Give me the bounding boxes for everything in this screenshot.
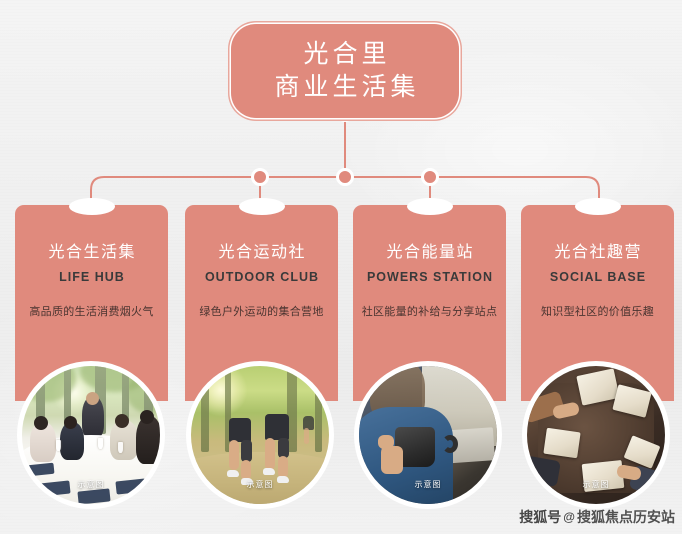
junction-dot-3 (423, 170, 438, 185)
card-cn-title: 光合生活集 (15, 243, 168, 263)
watermark-prefix: 搜狐号 (519, 507, 561, 527)
photo-label: 示意图 (191, 479, 329, 490)
sohu-watermark: 搜狐号 @ 搜狐焦点历安站 (519, 507, 675, 527)
card-photo-powers-station: 示意图 (354, 361, 502, 509)
watermark-suffix: 搜狐焦点历安站 (577, 507, 675, 527)
card-en-title: LIFE HUB (15, 269, 168, 285)
group-reading-books-photo: 示意图 (527, 366, 665, 504)
card-photo-outdoor-club: 示意图 (186, 361, 334, 509)
card-notch (407, 198, 453, 215)
card-en-title: OUTDOOR CLUB (185, 269, 338, 285)
card-en-title: POWERS STATION (353, 269, 506, 285)
card-description: 知识型社区的价值乐趣 (521, 305, 674, 320)
diagram-canvas: 光合里 商业生活集 光合生活集 LIFE HUB 高品质的生活消费烟火气 光合运… (0, 0, 682, 534)
junction-dot-2 (253, 170, 268, 185)
photo-label: 示意图 (527, 479, 665, 490)
outdoor-banquet-photo: 示意图 (22, 366, 160, 504)
card-cn-title: 光合运动社 (185, 243, 338, 263)
runners-on-path-photo: 示意图 (191, 366, 329, 504)
card-cn-title: 光合社趣营 (521, 243, 674, 263)
title-line-2: 商业生活集 (270, 72, 419, 103)
card-photo-life-hub: 示意图 (17, 361, 165, 509)
junction-dot-center (338, 170, 353, 185)
card-cn-title: 光合能量站 (353, 243, 506, 263)
card-description: 高品质的生活消费烟火气 (15, 305, 168, 320)
title-line-1: 光合里 (299, 39, 390, 70)
card-notch (575, 198, 621, 215)
card-description: 绿色户外运动的集合营地 (185, 305, 338, 320)
watermark-separator: @ (563, 510, 575, 524)
photo-label: 示意图 (22, 479, 160, 490)
card-notch (69, 198, 115, 215)
card-notch (239, 198, 285, 215)
card-description: 社区能量的补给与分享站点 (353, 305, 506, 320)
cafe-coffee-mug-photo: 示意图 (359, 366, 497, 504)
photo-label: 示意图 (359, 479, 497, 490)
card-en-title: SOCIAL BASE (521, 269, 674, 285)
card-photo-social-base: 示意图 (522, 361, 670, 509)
diagram-title-box: 光合里 商业生活集 (234, 27, 456, 115)
